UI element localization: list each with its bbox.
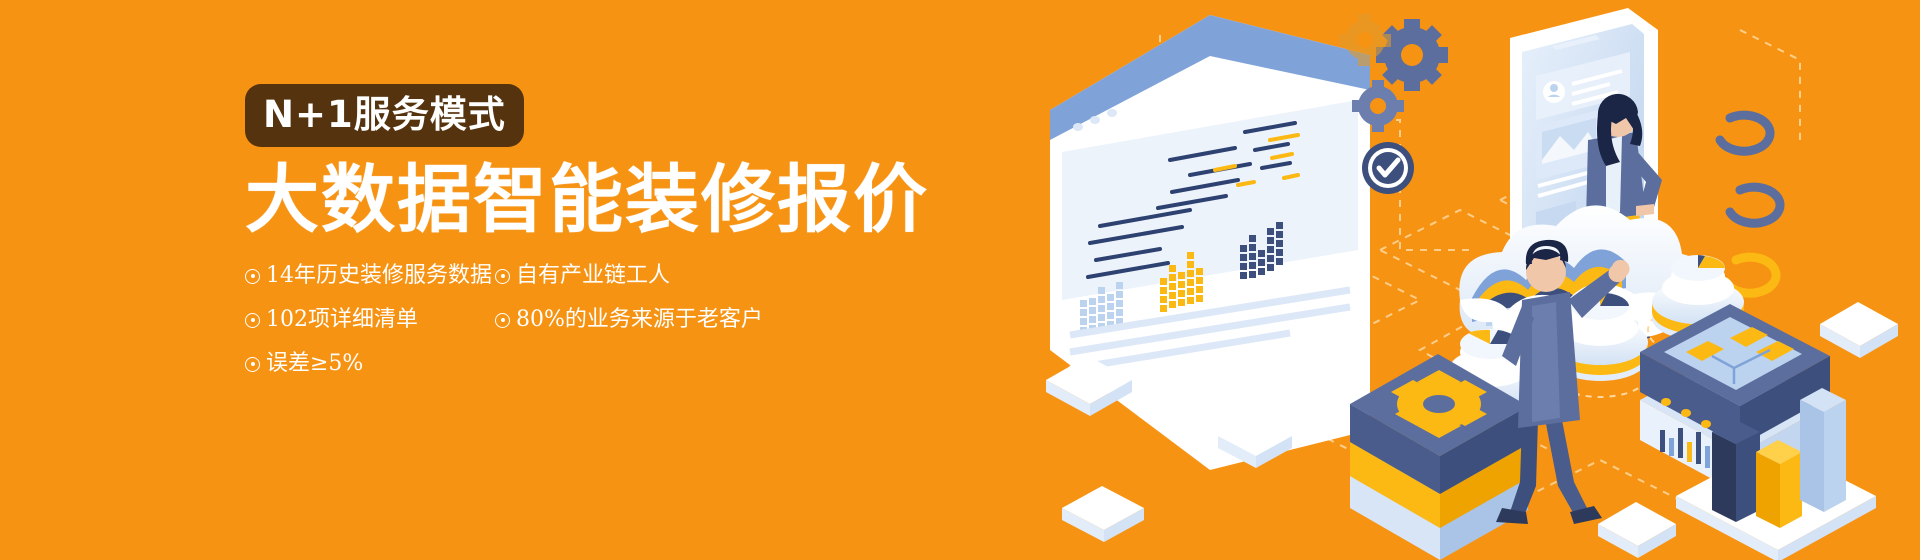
feature-bullet-list: 14年历史装修服务数据 自有产业链工人 102项详细清单 80%的业务来源于老客… (245, 265, 845, 397)
page-title: 大数据智能装修报价 (245, 161, 1005, 239)
floating-tile (1062, 486, 1144, 542)
floating-tile (1820, 302, 1898, 358)
isometric-illustration (1040, 0, 1920, 560)
list-item: 14年历史装修服务数据 (245, 265, 495, 287)
list-item: 80%的业务来源于老客户 (495, 309, 845, 331)
copy-block: N+1服务模式 大数据智能装修报价 14年历史装修服务数据 自有产业链工人 10… (245, 84, 1005, 397)
list-item: 102项详细清单 (245, 309, 495, 331)
check-badge-icon (1362, 142, 1414, 194)
list-item-label: 自有产业链工人 (516, 265, 670, 287)
promo-banner: N+1服务模式 大数据智能装修报价 14年历史装修服务数据 自有产业链工人 10… (0, 0, 1920, 560)
bullet-dot-icon (245, 357, 260, 372)
service-mode-badge: N+1服务模式 (245, 84, 524, 147)
gear-large-icon (1376, 19, 1448, 91)
bullet-dot-icon (245, 313, 260, 328)
floating-tile (1598, 502, 1676, 558)
list-item-label: 102项详细清单 (266, 309, 418, 331)
list-item: 误差≥5% (245, 353, 495, 375)
list-item-label: 14年历史装修服务数据 (266, 265, 492, 287)
list-item-label: 误差≥5% (266, 353, 363, 375)
ring-decoration (1720, 115, 1780, 293)
bullet-dot-icon (495, 313, 510, 328)
bullet-dot-icon (495, 269, 510, 284)
list-item-label: 80%的业务来源于老客户 (516, 309, 763, 331)
list-item: 自有产业链工人 (495, 265, 845, 287)
bullet-dot-icon (245, 269, 260, 284)
